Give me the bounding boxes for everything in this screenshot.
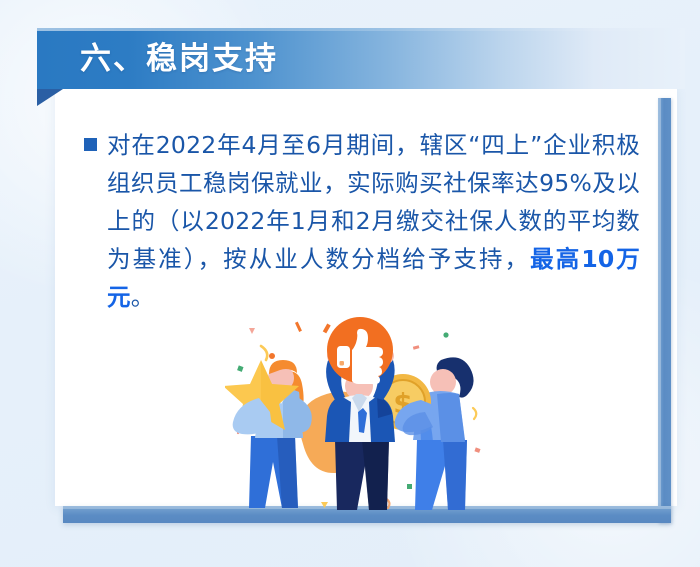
poster-canvas: 六、稳岗支持 对在2022年4月至6月期间，辖区“四上”企业积极组织员工稳岗保就… — [0, 0, 700, 567]
paragraph-part-3: 。 — [131, 283, 155, 311]
celebration-illustration: $ — [225, 316, 490, 510]
person-center — [325, 317, 395, 510]
page-title: 六、稳岗支持 — [80, 28, 278, 89]
card-right-accent-bar — [658, 98, 671, 523]
bullet-paragraph-row: 对在2022年4月至6月期间，辖区“四上”企业积极组织员工稳岗保就业，实际购买社… — [84, 126, 640, 316]
content-body: 对在2022年4月至6月期间，辖区“四上”企业积极组织员工稳岗保就业，实际购买社… — [84, 126, 640, 316]
policy-paragraph: 对在2022年4月至6月期间，辖区“四上”企业积极组织员工稳岗保就业，实际购买社… — [107, 126, 640, 316]
header-ribbon: 六、稳岗支持 — [37, 28, 685, 89]
ribbon-fold-icon — [37, 89, 63, 106]
bullet-square-icon — [84, 138, 97, 151]
